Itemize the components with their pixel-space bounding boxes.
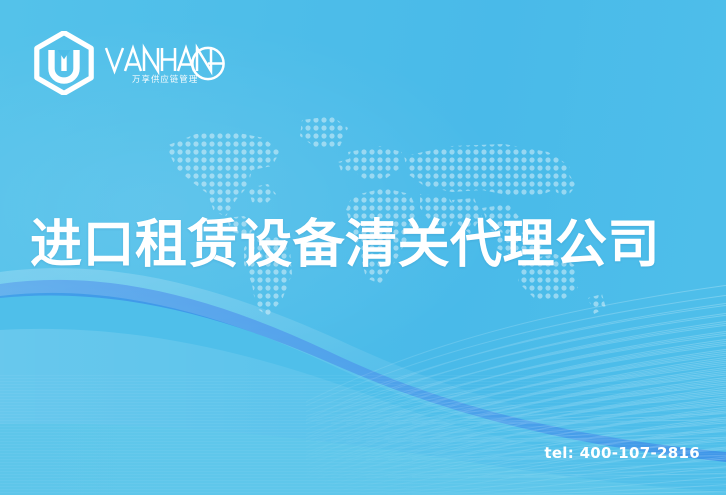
brand-logo[interactable]: 万享供应链管理 [33, 31, 226, 95]
vanhang-hexagon-mark-icon [33, 31, 95, 95]
promo-banner: 万享供应链管理 进口租赁设备清关代理公司 tel: 400-107-2816 [0, 0, 726, 495]
brand-wordmark: 万享供应链管理 [104, 38, 226, 88]
page-title: 进口租赁设备清关代理公司 [30, 214, 660, 276]
brand-subtitle-text: 万享供应链管理 [132, 74, 198, 84]
contact-phone[interactable]: tel: 400-107-2816 [544, 444, 700, 462]
